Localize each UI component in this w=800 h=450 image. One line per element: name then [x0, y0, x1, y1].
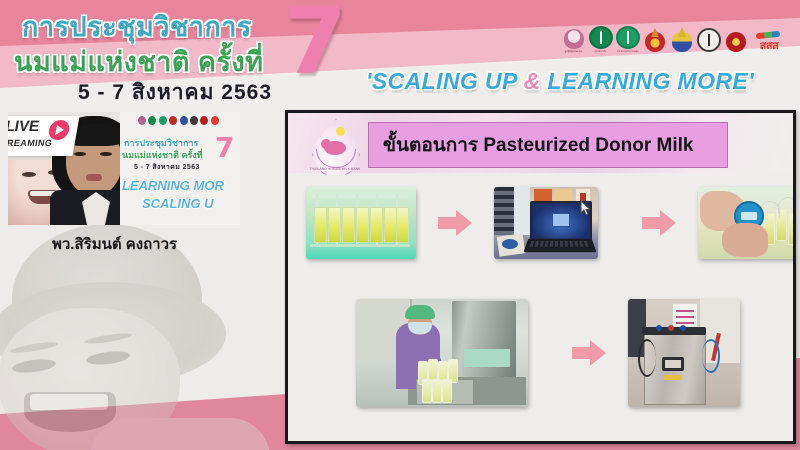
edition-number: 7 — [283, 0, 347, 88]
process-row-2 — [356, 299, 740, 407]
slide-title-text: ขั้นตอนการ Pasteurized Donor Milk — [383, 130, 693, 160]
ministry-public-health-logo: กรมอนามัย — [590, 26, 611, 53]
poster-slogan-line1: LEARNING MOR — [122, 178, 224, 193]
process-arrow-1 — [438, 210, 472, 236]
process-arrow-3 — [572, 340, 606, 366]
collected-donor-milk-bottles-photo — [306, 187, 416, 259]
slogan-ampersand: & — [524, 68, 541, 94]
poster-title-line2: นมแม่แห่งชาติ ครั้งที่ — [122, 148, 203, 162]
thaihealth-sss-logo: สสส — [752, 26, 786, 53]
slide-capture: การประชุมวิชาการ นมแม่แห่งชาติ ครั้งที่ … — [0, 0, 800, 450]
data-recording-laptop-photo — [494, 187, 598, 259]
poster-edition-number: 7 — [215, 134, 234, 162]
live-label: LIVE — [8, 118, 41, 135]
garuda-seal-logo — [698, 26, 719, 53]
red-seal-logo — [725, 26, 746, 53]
slide-panel: THAILAND HUMAN MILK BANK ขั้นตอนการ Past… — [285, 110, 796, 444]
poster-date: 5 - 7 สิงหาคม 2563 — [134, 162, 200, 173]
process-row-1 — [306, 187, 796, 259]
temperature-measurement-photo — [698, 187, 796, 259]
royal-emblem-logo: มูลนิธิศูนย์นมแม่ — [563, 26, 584, 53]
university-emblem-logo — [671, 26, 692, 53]
slide-title-box: ขั้นตอนการ Pasteurized Donor Milk — [368, 122, 728, 168]
department-health-logo: กระทรวงสาธารณสุข — [617, 26, 638, 53]
video-poster-backdrop: การประชุมวิชาการ นมแม่แห่งชาติ ครั้งที่ … — [120, 112, 240, 225]
royal-college-logo — [644, 26, 665, 53]
slide-body — [288, 175, 793, 438]
pasteurizer-machine-photo — [628, 299, 740, 407]
conference-slogan: 'SCALING UP & LEARNING MORE' — [366, 68, 754, 95]
conference-date: 5 - 7 สิงหาคม 2563 — [78, 76, 272, 109]
poster-slogan-line2: SCALING U — [142, 196, 214, 211]
poster-logo-strip — [138, 116, 219, 125]
video-speaker-frame: LIVE STREAMING — [8, 112, 120, 225]
human-milk-bank-logo: THAILAND HUMAN MILK BANK — [304, 117, 366, 179]
sponsor-logo-row: มูลนิธิศูนย์นมแม่ กรมอนามัย กระทรวงสาธาร… — [563, 26, 786, 53]
nurse-preparing-bottles-photo — [356, 299, 528, 407]
live-streaming-badge: LIVE STREAMING — [8, 116, 80, 156]
streaming-label: STREAMING — [8, 138, 53, 148]
live-stream-video-thumbnail[interactable]: LIVE STREAMING การประชุมวิชาการ นมแม่แห่… — [8, 112, 240, 225]
play-icon — [47, 120, 71, 140]
mouse-pointer — [580, 200, 592, 217]
speaker-name-label: พว.สิริมนต์ คงถาวร — [52, 232, 177, 256]
slogan-part-close: LEARNING MORE' — [541, 68, 754, 94]
process-arrow-2 — [642, 210, 676, 236]
milk-bank-logo-caption: THAILAND HUMAN MILK BANK — [302, 167, 368, 171]
slogan-part-open: 'SCALING UP — [366, 68, 524, 94]
